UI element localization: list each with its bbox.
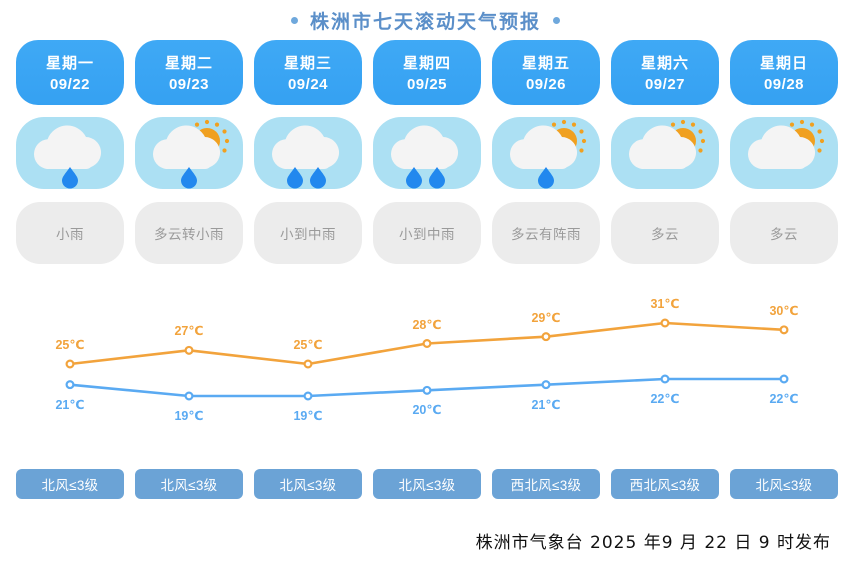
sun-cloud-icon: [611, 117, 719, 189]
day-column: 星期一09/22 小雨: [16, 40, 124, 264]
day-date: 09/28: [764, 76, 804, 93]
day-date: 09/22: [50, 76, 90, 93]
day-column: 星期四09/25 小到中雨: [373, 40, 481, 264]
bullet-dot-icon: [291, 17, 298, 24]
day-column: 星期二09/23 多云转小雨: [135, 40, 243, 264]
raindrop-icon: [406, 167, 445, 189]
day-column: 星期日09/28 多云: [730, 40, 838, 264]
high-temp-label: 25℃: [55, 337, 84, 352]
low-temp-label: 19℃: [174, 408, 203, 423]
high-temp-label: 30℃: [769, 303, 798, 318]
raindrop-icon: [181, 167, 197, 189]
bullet-dot-icon: [553, 17, 560, 24]
weather-description-pill: 多云: [730, 202, 838, 264]
day-header-pill[interactable]: 星期四09/25: [373, 40, 481, 105]
weather-description-pill: 小到中雨: [373, 202, 481, 264]
raindrop-icon: [538, 167, 554, 189]
day-header-pill[interactable]: 星期日09/28: [730, 40, 838, 105]
sun-cloud-rain-icon: [135, 117, 243, 189]
wind-pill: 北风≤3级: [254, 469, 362, 499]
wind-pill: 北风≤3级: [135, 469, 243, 499]
page-title: 株洲市七天滚动天气预报: [310, 7, 541, 34]
forecast-columns: 星期一09/22 小雨星期二09/23 多云转小雨星期三09/24: [16, 40, 836, 264]
day-header-pill[interactable]: 星期二09/23: [135, 40, 243, 105]
day-weekday: 星期五: [522, 52, 570, 73]
day-weekday: 星期三: [284, 52, 332, 73]
day-weekday: 星期六: [641, 52, 689, 73]
issuing-office-footer: 株洲市气象台 2025 年9 月 22 日 9 时发布: [476, 528, 831, 553]
day-date: 09/24: [288, 76, 328, 93]
high-temp-label: 31℃: [650, 296, 679, 311]
low-temp-label: 22℃: [769, 391, 798, 406]
cloud-rain-moderate-icon: [254, 117, 362, 189]
cloud-rain-moderate-icon: [373, 117, 481, 189]
day-column: 星期三09/24 小到中雨: [254, 40, 362, 264]
low-temp-label: 21℃: [531, 397, 560, 412]
high-temp-label: 29℃: [531, 310, 560, 325]
cloud-icon: [34, 126, 101, 169]
day-weekday: 星期日: [760, 52, 808, 73]
wind-pill: 北风≤3级: [373, 469, 481, 499]
day-date: 09/25: [407, 76, 447, 93]
cloud-rain-light-icon: [16, 117, 124, 189]
day-weekday: 星期一: [46, 52, 94, 73]
high-temp-label: 25℃: [293, 337, 322, 352]
cloud-icon: [272, 126, 339, 169]
high-temp-label: 28℃: [412, 317, 441, 332]
day-column: 星期五09/26 多云有阵雨: [492, 40, 600, 264]
raindrop-icon: [62, 167, 78, 189]
wind-pill: 北风≤3级: [730, 469, 838, 499]
weather-description-pill: 小到中雨: [254, 202, 362, 264]
weather-description-pill: 多云有阵雨: [492, 202, 600, 264]
day-weekday: 星期二: [165, 52, 213, 73]
wind-pill: 西北风≤3级: [611, 469, 719, 499]
low-temp-label: 19℃: [293, 408, 322, 423]
wind-row: 北风≤3级北风≤3级北风≤3级北风≤3级西北风≤3级西北风≤3级北风≤3级: [16, 469, 836, 499]
weather-description-pill: 多云转小雨: [135, 202, 243, 264]
high-temp-label: 27℃: [174, 323, 203, 338]
day-header-pill[interactable]: 星期五09/26: [492, 40, 600, 105]
low-temp-label: 21℃: [55, 397, 84, 412]
cloud-icon: [391, 126, 458, 169]
day-date: 09/23: [169, 76, 209, 93]
day-column: 星期六09/27 多云: [611, 40, 719, 264]
wind-pill: 北风≤3级: [16, 469, 124, 499]
sun-cloud-icon: [730, 117, 838, 189]
day-date: 09/27: [645, 76, 685, 93]
day-header-pill[interactable]: 星期六09/27: [611, 40, 719, 105]
day-weekday: 星期四: [403, 52, 451, 73]
low-temp-label: 22℃: [650, 391, 679, 406]
raindrop-icon: [287, 167, 326, 189]
sun-cloud-rain-icon: [492, 117, 600, 189]
weather-description-pill: 小雨: [16, 202, 124, 264]
low-temp-label: 20℃: [412, 402, 441, 417]
wind-pill: 西北风≤3级: [492, 469, 600, 499]
day-header-pill[interactable]: 星期一09/22: [16, 40, 124, 105]
page-title-row: 株洲市七天滚动天气预报: [0, 5, 851, 35]
temperature-chart: 25℃27℃25℃28℃29℃31℃30℃21℃19℃19℃20℃21℃22℃2…: [0, 300, 851, 462]
day-date: 09/26: [526, 76, 566, 93]
weather-description-pill: 多云: [611, 202, 719, 264]
day-header-pill[interactable]: 星期三09/24: [254, 40, 362, 105]
